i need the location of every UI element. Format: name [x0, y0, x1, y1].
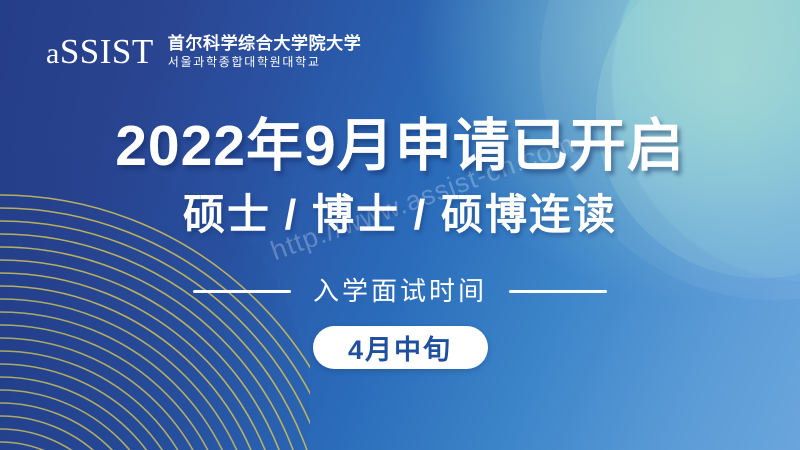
- wordmark-letters-rest: SSIST: [60, 32, 154, 71]
- divider-rule-right: [509, 290, 607, 293]
- brand-name-block: 首尔科学综合大学院大学 서울과학종합대학원대학교: [168, 35, 362, 68]
- brand-name-korean: 서울과학종합대학원대학교: [168, 56, 362, 68]
- assist-wordmark: aSSIST: [46, 34, 154, 69]
- interview-date-pill[interactable]: 4月中旬: [313, 326, 488, 369]
- brand-logo[interactable]: aSSIST 首尔科学综合大学院大学 서울과학종합대학원대학교: [46, 34, 361, 69]
- banner-content: 2022年9月申请已开启 硕士 / 博士 / 硕博连读 入学面试时间 4月中旬: [0, 118, 800, 369]
- brand-name-chinese: 首尔科学综合大学院大学: [168, 35, 362, 52]
- section-label-row: 入学面试时间: [193, 278, 607, 304]
- headline-text: 2022年9月申请已开启: [115, 118, 685, 175]
- section-label-text: 入学面试时间: [313, 278, 487, 304]
- subheadline-text: 硕士 / 博士 / 硕博连读: [183, 194, 617, 236]
- wordmark-letter-a: a: [46, 37, 60, 70]
- promo-banner: http://www.assist-cn.com aSSIST 首尔科学综合大学…: [0, 0, 800, 450]
- divider-rule-left: [193, 290, 291, 293]
